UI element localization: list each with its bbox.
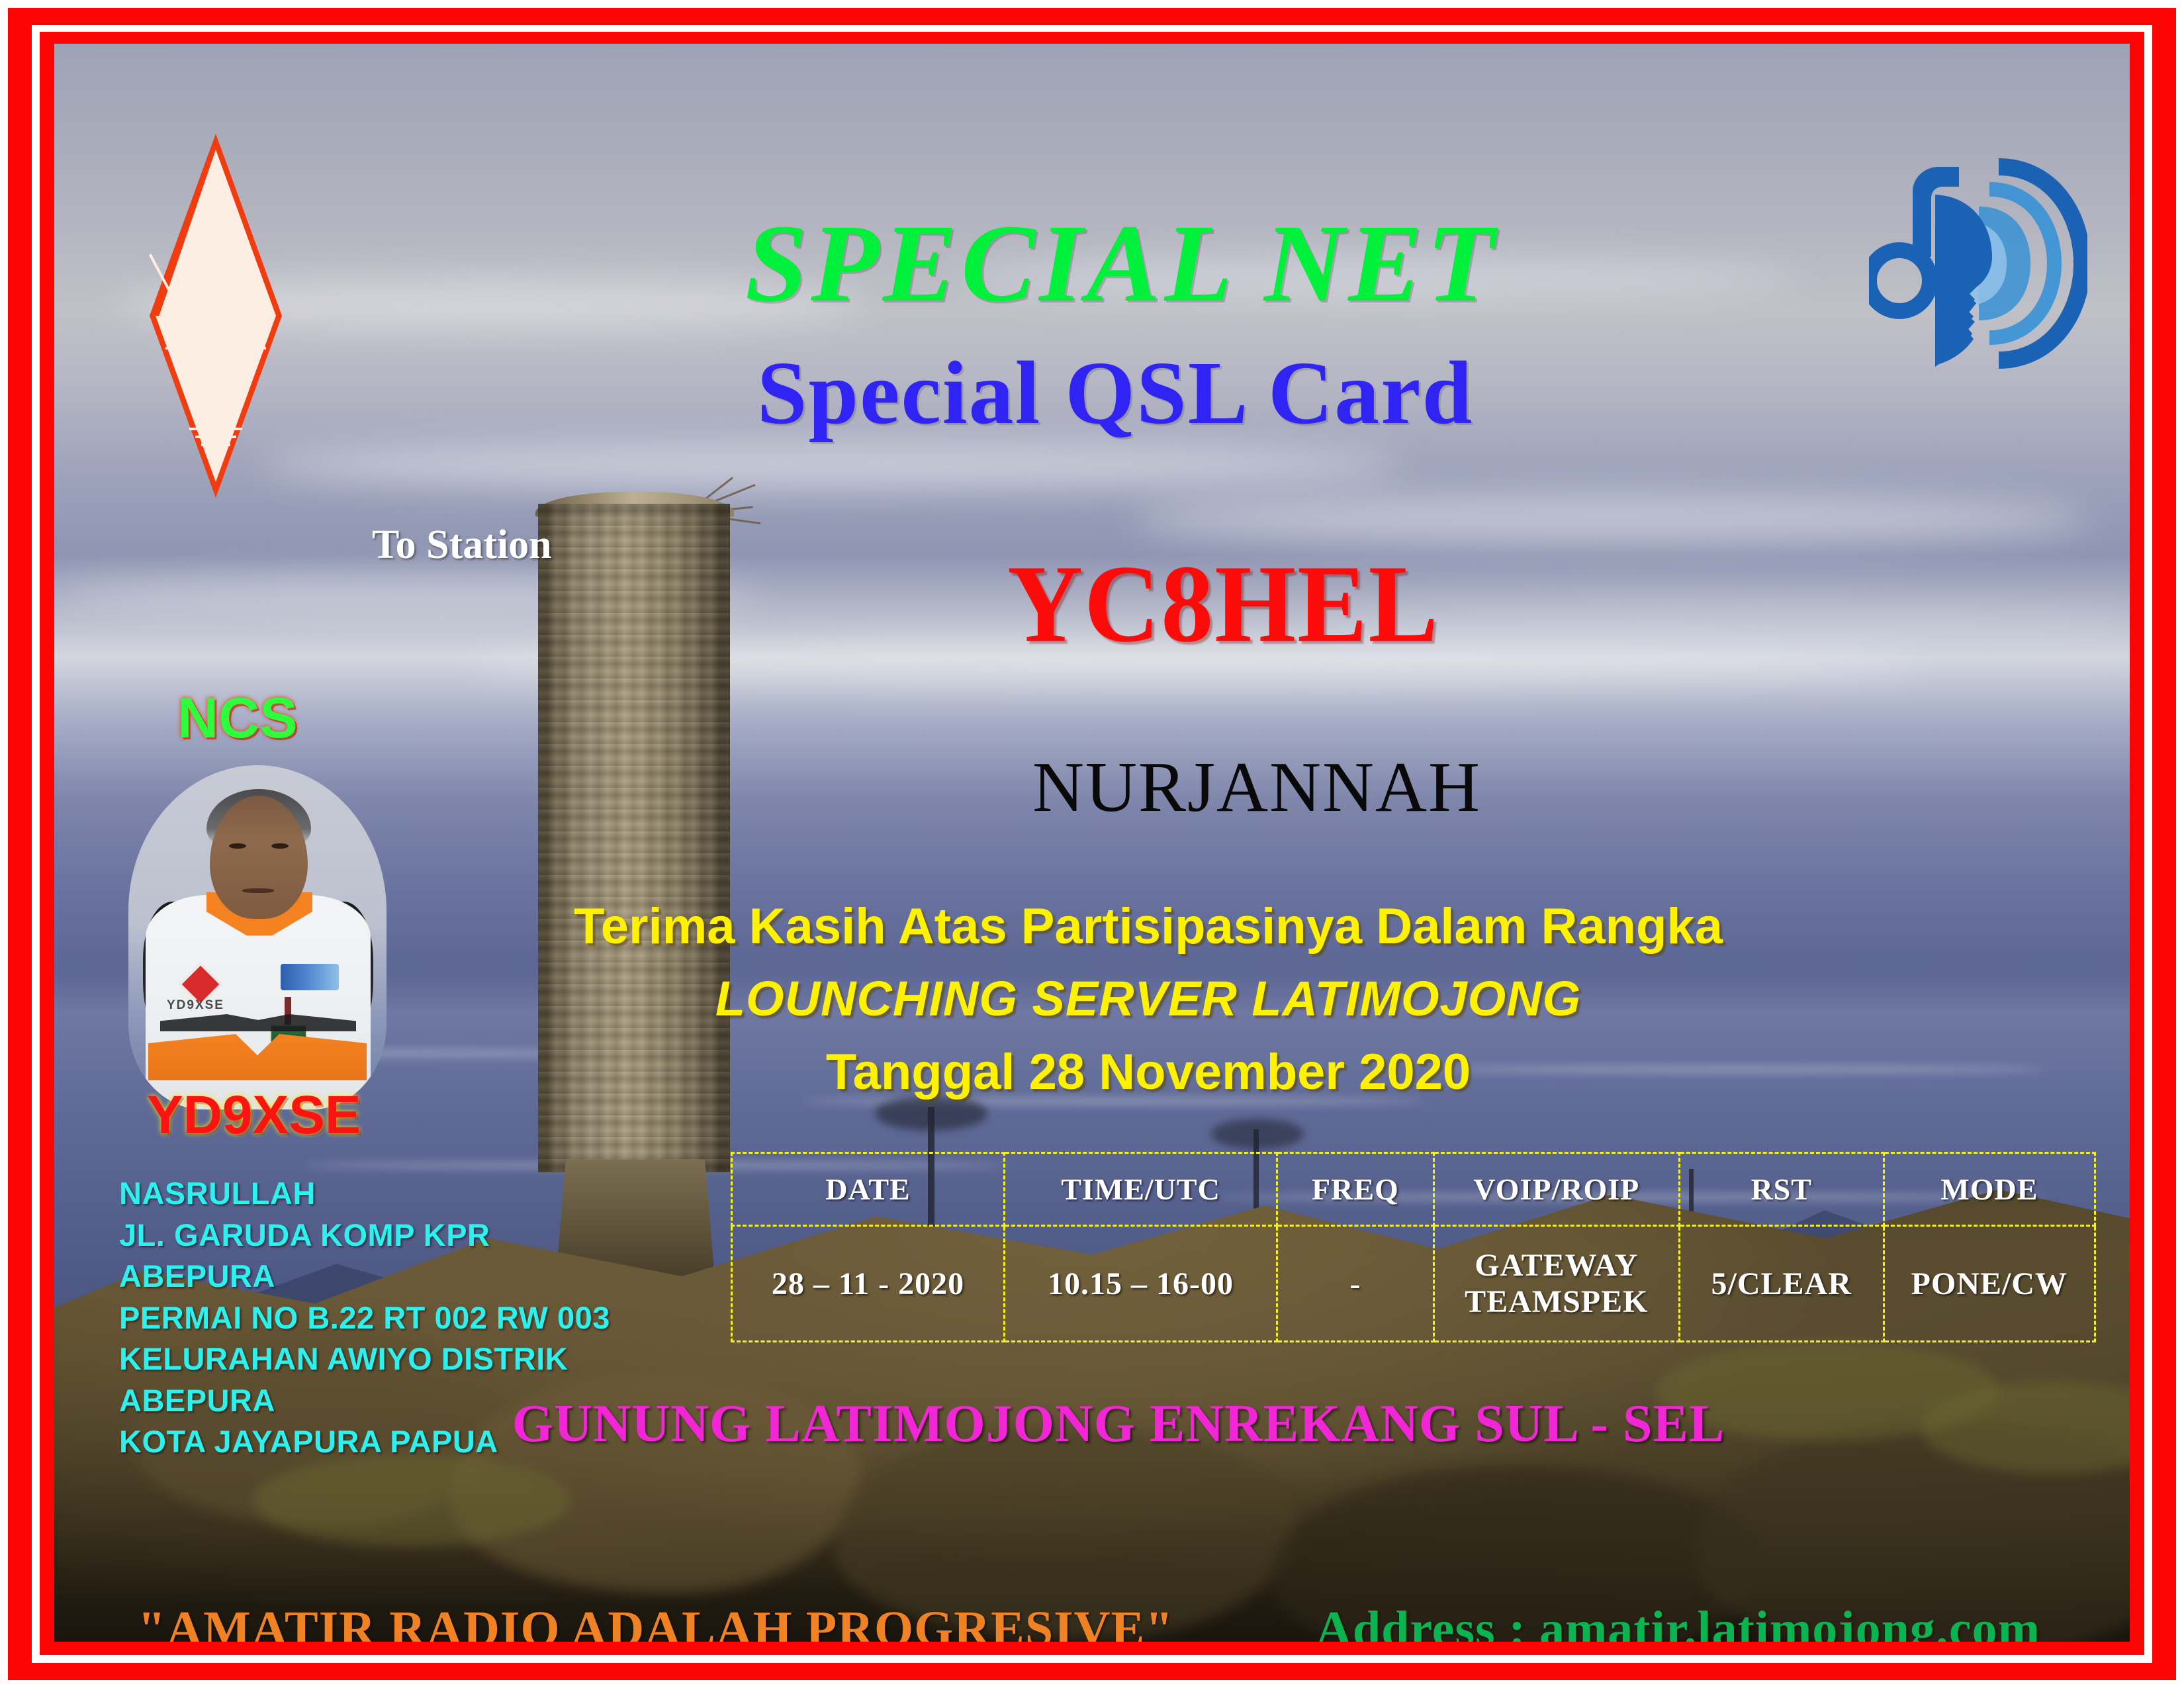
photo-eye — [229, 843, 246, 849]
table-row: 28 – 11 - 2020 10.15 – 16-00 - GATEWAY T… — [732, 1226, 2095, 1342]
footer-website-address: Address : amatir.latimojong.com — [1316, 1601, 2040, 1642]
tree-canopy — [1211, 1119, 1304, 1149]
qso-log-table: DATE TIME/UTC FREQ VOIP/ROIP RST MODE 28… — [731, 1152, 2096, 1340]
cell-mode: PONE/CW — [1884, 1226, 2095, 1342]
background-photo: ORARI SPECIAL NET Special QSL Card — [54, 44, 2130, 1642]
address-line: NASRULLAH — [119, 1173, 610, 1215]
address-line: KELURAHAN AWIYO DISTRIK — [119, 1338, 610, 1380]
tree-canopy — [875, 1096, 987, 1131]
photo-vignette: YD9XSE — [128, 765, 387, 1109]
cell-voip-line-1: GATEWAY — [1435, 1247, 1678, 1284]
cloud-band — [262, 443, 1404, 489]
station-callsign: YC8HEL — [1007, 541, 1439, 669]
footer-slogan: "AMATIR RADIO ADALAH PROGRESIVE" — [138, 1601, 1173, 1642]
address-line: JL. GARUDA KOMP KPR — [119, 1215, 610, 1256]
cell-freq: - — [1277, 1226, 1434, 1342]
col-header-freq: FREQ — [1277, 1153, 1434, 1226]
page-subtitle-qsl-card: Special QSL Card — [54, 342, 2130, 445]
location-caption: GUNUNG LATIMOJONG ENREKANG SUL - SEL — [54, 1394, 2130, 1454]
page-title-special-net: SPECIAL NET — [54, 200, 2130, 328]
col-header-voip-roip: VOIP/ROIP — [1433, 1153, 1679, 1226]
table-header-row: DATE TIME/UTC FREQ VOIP/ROIP RST MODE — [732, 1153, 2095, 1226]
antenna-tip-icon — [208, 176, 225, 191]
cell-voip-roip: GATEWAY TEAMSPEK — [1433, 1226, 1679, 1342]
qsl-card: ORARI SPECIAL NET Special QSL Card — [0, 0, 2184, 1688]
ncs-callsign: YD9XSE — [147, 1084, 361, 1147]
ground-symbol-tip — [208, 445, 224, 461]
ncs-operator-photo: YD9XSE — [128, 765, 387, 1109]
grass-tuft — [253, 1454, 570, 1546]
photo-eye — [271, 843, 289, 849]
col-header-rst: RST — [1679, 1153, 1884, 1226]
photo-club-patch — [281, 964, 339, 990]
address-line: PERMAI NO B.22 RT 002 RW 003 — [119, 1297, 610, 1339]
photo-embroidered-callsign: YD9XSE — [167, 998, 224, 1013]
col-header-time: TIME/UTC — [1005, 1153, 1277, 1226]
col-header-date: DATE — [732, 1153, 1005, 1226]
to-station-label: To Station — [372, 522, 552, 569]
cell-rst: 5/CLEAR — [1679, 1226, 1884, 1342]
cell-date: 28 – 11 - 2020 — [732, 1226, 1005, 1342]
operator-name: NURJANNAH — [1032, 747, 1481, 829]
cloud-band — [1134, 494, 2089, 545]
address-line: ABEPURA — [119, 1256, 610, 1297]
cell-voip-line-2: TEAMSPEK — [1435, 1284, 1678, 1320]
qso-table-element: DATE TIME/UTC FREQ VOIP/ROIP RST MODE 28… — [731, 1152, 2096, 1342]
cell-time: 10.15 – 16-00 — [1005, 1226, 1277, 1342]
col-header-mode: MODE — [1884, 1153, 2095, 1226]
photo-mouth — [242, 888, 274, 893]
ncs-role-label: NCS — [177, 686, 298, 751]
